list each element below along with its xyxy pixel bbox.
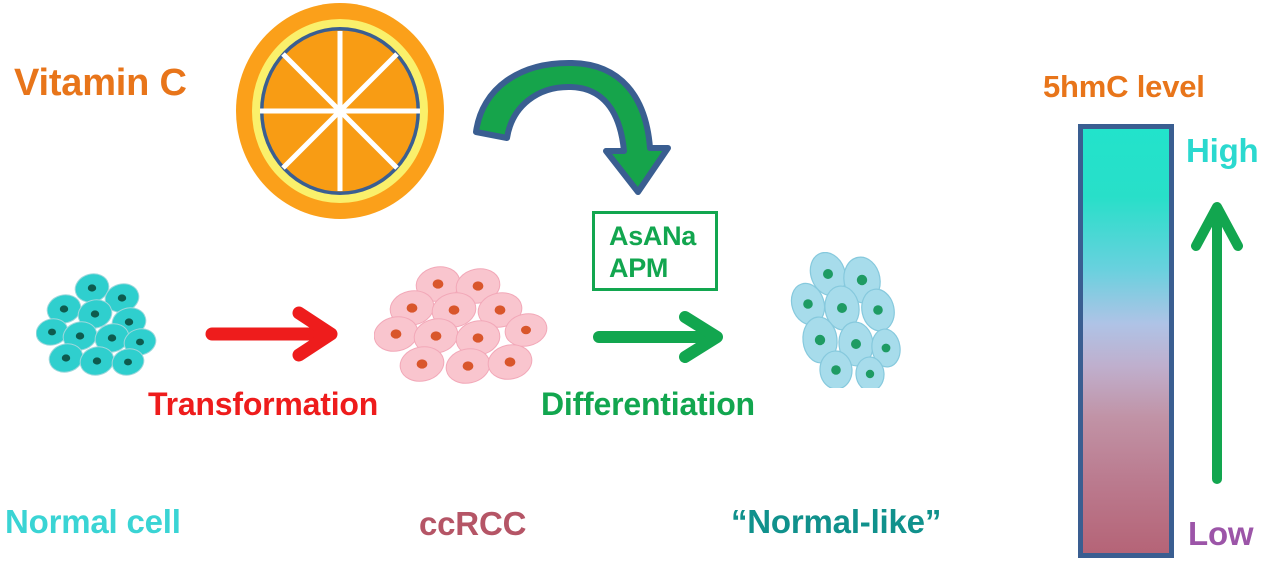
cell-cluster-normal-like bbox=[790, 252, 902, 388]
right-arrow-icon-differentiation bbox=[592, 310, 732, 364]
stage-label-normal-cell: Normal cell bbox=[5, 505, 181, 538]
cell-cluster-normal bbox=[36, 268, 158, 380]
differentiation-label: Differentiation bbox=[541, 388, 755, 420]
legend-low-label: Low bbox=[1188, 517, 1253, 550]
treatment-line-2: APM bbox=[609, 253, 715, 285]
legend-high-label: High bbox=[1186, 134, 1259, 167]
cell-cluster-ccrcc bbox=[374, 264, 550, 388]
transformation-label: Transformation bbox=[148, 388, 378, 420]
figure-canvas: Vitamin C AsANa APM bbox=[0, 0, 1270, 564]
stage-label-ccrcc: ccRCC bbox=[419, 507, 526, 540]
legend-title: 5hmC level bbox=[1043, 71, 1205, 102]
vitamin-c-label: Vitamin C bbox=[14, 64, 187, 102]
orange-slice-icon bbox=[235, 2, 445, 220]
legend-gradient-bar bbox=[1078, 124, 1174, 558]
curved-arrow-icon bbox=[468, 52, 684, 204]
stage-label-normal-like: “Normal-like” bbox=[731, 505, 941, 538]
treatment-line-1: AsANa bbox=[609, 221, 715, 253]
up-arrow-icon-level bbox=[1190, 198, 1244, 486]
right-arrow-icon-transformation bbox=[205, 305, 345, 363]
treatment-box: AsANa APM bbox=[592, 211, 718, 291]
